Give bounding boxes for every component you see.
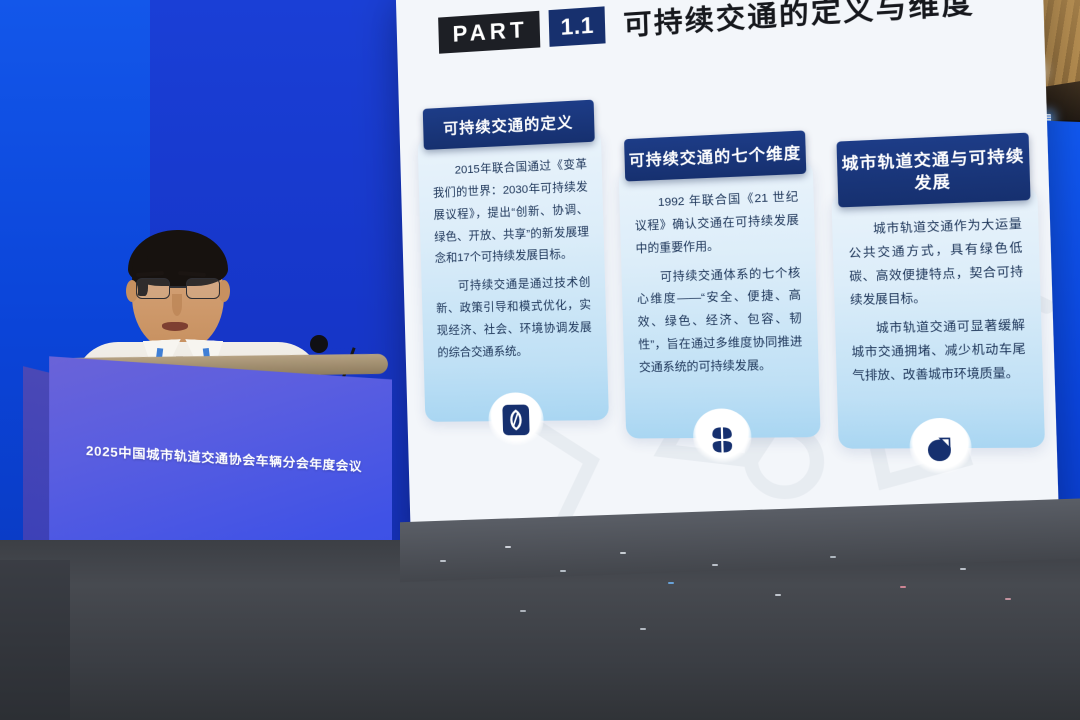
pie-document-icon-svg [924,430,957,465]
conference-stage-scene: PART 1.1 可持续交通的定义与维度 可持续交通的定义 2015年联合国通过… [0,0,1080,720]
card-paragraph: 2015年联合国通过《变革我们的世界：2030年可持续发展议程》，提出“创新、协… [432,154,590,271]
card-paragraph: 1992 年联合国《21 世纪议程》确认交通在可持续发展中的重要作用。 [634,187,800,261]
microphone-head [310,335,328,353]
four-petals-icon [692,408,752,465]
leaf-icon-svg [501,403,530,436]
card-seven-dimensions: 可持续交通的七个维度 1992 年联合国《21 世纪议程》确认交通在可持续发展中… [618,130,821,438]
slide-header: PART 1.1 可持续交通的定义与维度 [438,0,1013,55]
card-body: 2015年联合国通过《变革我们的世界：2030年可持续发展议程》，提出“创新、协… [418,129,609,421]
card-paragraph: 城市轨道交通可显著缓解城市交通拥堵、减少机动车尾气排放、改善城市环境质量。 [851,315,1027,389]
mouth [162,322,188,331]
slide-title: 可持续交通的定义与维度 [623,0,976,43]
floor-left-corner [0,560,70,720]
pie-document-icon [909,418,973,477]
card-paragraph: 可持续交通是通过技术创新、政策引导和模式优化，实现经济、社会、环境协调发展的综合… [435,273,592,365]
card-definition: 可持续交通的定义 2015年联合国通过《变革我们的世界：2030年可持续发展议程… [417,99,609,421]
nose [172,294,182,316]
card-urban-rail: 城市轨道交通与可持续发展 城市轨道交通作为大运量公共交通方式，具有绿色低碳、高效… [830,132,1045,448]
card-header: 可持续交通的七个维度 [624,130,806,181]
slide-card-row: 可持续交通的定义 2015年联合国通过《变革我们的世界：2030年可持续发展议程… [417,76,1045,451]
card-paragraph: 可持续交通体系的七个核心维度——“安全、便捷、高效、绿色、经济、包容、韧性”，旨… [636,262,803,380]
card-paragraph: 城市轨道交通作为大运量公共交通方式，具有绿色低碳、高效便捷特点，契合可持续发展目… [848,214,1025,313]
four-petals-icon-svg [707,420,738,454]
card-header: 城市轨道交通与可持续发展 [836,133,1030,208]
card-body: 1992 年联合国《21 世纪议程》确认交通在可持续发展中的重要作用。 可持续交… [619,161,821,439]
stage-floor [0,540,1080,720]
part-number: 1.1 [549,6,606,46]
card-header: 可持续交通的定义 [423,100,595,150]
card-body: 城市轨道交通作为大运量公共交通方式，具有绿色低碳、高效便捷特点，契合可持续发展目… [831,187,1045,449]
part-label: PART [438,10,540,53]
leaf-icon [488,392,545,447]
